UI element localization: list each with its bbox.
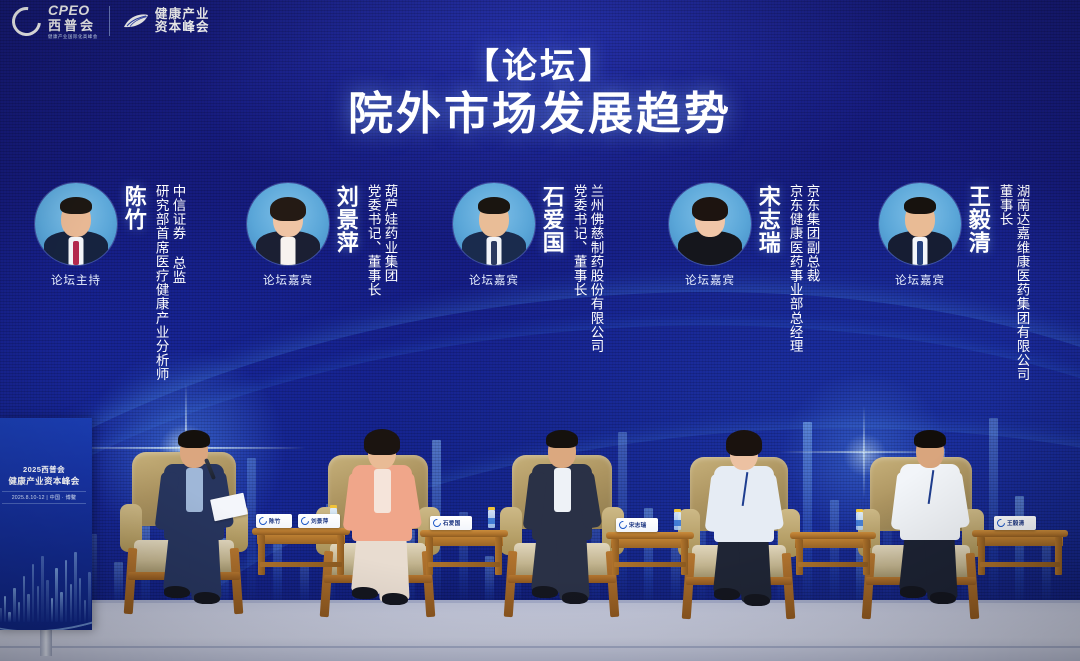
panelist-org-block: 中信证券 总监研究部首席医疗健康产业分析师	[151, 184, 185, 381]
panelist-org-line: 京东健康医药事业部总经理	[787, 184, 802, 353]
person-shoe	[352, 587, 378, 599]
side-table-leg	[1055, 537, 1062, 575]
person-leg	[924, 535, 957, 600]
standee-chart-bar	[51, 598, 54, 622]
water-bottle	[856, 509, 863, 530]
standee-chart-bar	[4, 596, 7, 622]
panelist-org-line: 董事长	[997, 184, 1012, 381]
person-hair	[726, 430, 762, 456]
standee-chart-bar	[60, 592, 63, 622]
avatar-shirt	[281, 237, 296, 265]
side-table-apron	[257, 535, 345, 544]
panelist-org-line: 中信证券 总监	[170, 184, 185, 381]
avatar-tie	[73, 241, 79, 265]
panelist-portrait-column: 论坛主持	[34, 183, 118, 288]
standee-chart-bar	[70, 584, 73, 622]
nameplate-text: 刘景萍	[311, 517, 328, 525]
summit-logo: 健康产业 资本峰会	[123, 8, 210, 35]
logo-divider	[109, 6, 110, 36]
panelist-name: 刘景萍	[334, 185, 358, 254]
cpeo-logo-cn: 西普会	[48, 19, 98, 32]
standee-chart-bar	[13, 588, 16, 622]
person-leg	[188, 535, 221, 600]
panelist-strip: 论坛主持陈竹中信证券 总监研究部首席医疗健康产业分析师论坛嘉宾刘景萍葫芦娃药业集…	[0, 183, 1080, 423]
nameplate-logo-icon	[995, 517, 1006, 528]
panelist-role: 论坛嘉宾	[685, 272, 735, 288]
person-hair	[178, 430, 210, 448]
panelist-org-line: 葫芦娃药业集团	[382, 184, 397, 297]
forum-title-block: 【论坛】 院外市场发展趋势	[0, 48, 1080, 140]
bottle-body	[856, 512, 863, 530]
standee-line2: 健康产业资本峰会	[0, 475, 92, 487]
cpeo-logo-sub: 健康产业国际化高峰会	[48, 35, 98, 39]
person-leg	[556, 535, 589, 600]
panelist-name: 石爱国	[540, 185, 564, 254]
panelist-seated	[518, 424, 628, 624]
person-leg	[376, 536, 409, 601]
standee-chart-bar	[65, 560, 68, 622]
bottle-label	[488, 518, 495, 524]
panelist-role: 论坛嘉宾	[469, 272, 519, 288]
standee-base-pole	[40, 630, 52, 656]
standee-chart-bar	[74, 552, 77, 622]
panelist-portrait-column: 论坛嘉宾	[878, 183, 962, 288]
conference-stage-photo: CPEO 西普会 健康产业国际化高峰会 健康产业 资本峰会 【论坛】 院外市场发…	[0, 0, 1080, 661]
side-table-stretcher	[260, 562, 342, 567]
panelist-name: 宋志瑞	[756, 185, 780, 254]
panelist-org-line: 研究部首席医疗健康产业分析师	[153, 184, 168, 381]
side-table-leg	[495, 537, 502, 575]
person-shoe	[532, 586, 558, 598]
standee-chart-bar	[23, 576, 26, 622]
bottle-label	[674, 520, 681, 526]
standee-chart-bar	[41, 556, 44, 622]
water-bottle	[674, 509, 681, 530]
panelist-card: 论坛嘉宾王毅清湖南达嘉维康医药集团有限公司董事长	[878, 183, 1028, 381]
person-hair	[546, 430, 578, 448]
panelist-org-block: 湖南达嘉维康医药集团有限公司董事长	[995, 184, 1029, 381]
nameplate-logo-icon	[299, 515, 310, 526]
stage-floor-seam	[0, 646, 1080, 648]
nameplate-text: 陈竹	[269, 517, 281, 525]
standee-chart-bar	[46, 580, 49, 622]
standee-chart-bar	[88, 572, 91, 622]
nameplate: 王毅清	[994, 516, 1036, 530]
person-shoe	[900, 586, 926, 598]
panelist-avatar	[453, 183, 535, 265]
panelist-org-line: 京东集团副总裁	[804, 184, 819, 353]
person-shoe	[714, 588, 740, 600]
panelist-org-block: 葫芦娃药业集团党委书记、董事长	[363, 184, 397, 297]
side-table-leg	[863, 539, 870, 575]
panelist-name: 陈竹	[122, 185, 146, 231]
forum-title-bracket: 【论坛】	[0, 48, 1080, 86]
standee-chart-bar	[32, 564, 35, 622]
standee-chart-bar	[55, 568, 58, 622]
person-hair	[914, 430, 946, 448]
panelist-org-line: 党委书记、董事长	[365, 184, 380, 297]
person-shoe	[194, 592, 220, 604]
nameplate-text: 王毅清	[1007, 519, 1024, 527]
avatar-hair	[692, 197, 728, 221]
avatar-hair	[270, 197, 306, 221]
standee-chart-bar	[84, 600, 87, 622]
panelist-org-line: 湖南达嘉维康医药集团有限公司	[1014, 184, 1029, 381]
person-shirt	[554, 468, 571, 512]
person-shoe	[164, 586, 190, 598]
person-shirt	[374, 469, 391, 513]
panelist-card: 论坛主持陈竹中信证券 总监研究部首席医疗健康产业分析师	[34, 183, 184, 381]
panelist-seated	[886, 424, 996, 624]
leaf-logo-icon	[123, 14, 149, 29]
panelist-portrait-column: 论坛嘉宾	[668, 183, 752, 288]
panelist-org-block: 兰州佛慈制药股份有限公司党委书记、董事长	[569, 184, 603, 353]
standee-chart-bar	[0, 608, 2, 622]
person-shoe	[744, 594, 770, 606]
standee-chart-bar	[8, 612, 11, 622]
person-shirt	[186, 468, 203, 512]
panelist-card: 论坛嘉宾刘景萍葫芦娃药业集团党委书记、董事长	[246, 183, 396, 297]
armchair-leg	[124, 548, 138, 614]
bottle-label	[856, 520, 863, 526]
moderator	[150, 424, 260, 624]
event-logo-bar: CPEO 西普会 健康产业国际化高峰会 健康产业 资本峰会	[0, 0, 1080, 42]
nameplate: 陈竹	[256, 514, 292, 528]
summit-logo-line2: 资本峰会	[155, 21, 210, 35]
standee-chart-decor	[0, 544, 92, 622]
person-hair	[364, 429, 400, 455]
side-table-leg	[681, 539, 688, 575]
panelist-org-block: 京东集团副总裁京东健康医药事业部总经理	[785, 184, 819, 353]
nameplate-text: 宋志瑞	[629, 521, 646, 529]
nameplate: 刘景萍	[298, 514, 340, 528]
panelist-avatar	[35, 183, 117, 265]
panelist-role: 论坛嘉宾	[263, 272, 313, 288]
panelist-avatar	[879, 183, 961, 265]
standee-date: 2025.8.10-12 | 中国 · 博鳌	[2, 491, 86, 504]
panelist-card: 论坛嘉宾石爱国兰州佛慈制药股份有限公司党委书记、董事长	[452, 183, 602, 353]
water-bottle	[488, 507, 495, 528]
cpeo-ring-logo-icon	[6, 1, 47, 42]
avatar-tie	[491, 241, 497, 265]
panelist-portrait-column: 论坛嘉宾	[452, 183, 536, 288]
avatar-hair	[60, 197, 92, 214]
side-table-top	[252, 528, 350, 535]
panelist-portrait-column: 论坛嘉宾	[246, 183, 330, 288]
panelist-role: 论坛嘉宾	[895, 272, 945, 288]
cpeo-logo-en: CPEO	[48, 3, 98, 17]
avatar-hair	[478, 197, 510, 214]
standee-chart-bar	[27, 594, 30, 622]
forum-title-main: 院外市场发展趋势	[0, 88, 1080, 140]
bottle-body	[674, 512, 681, 530]
standee-banner: 2025西普会 健康产业资本峰会 2025.8.10-12 | 中国 · 博鳌	[0, 418, 92, 630]
person-shoe	[930, 592, 956, 604]
standee-chart-bar	[37, 586, 40, 622]
avatar-hair	[904, 197, 936, 214]
cpeo-logo: CPEO 西普会 健康产业国际化高峰会	[0, 3, 98, 39]
panelist-org-line: 兰州佛慈制药股份有限公司	[588, 184, 603, 353]
panelist-org-line: 党委书记、董事长	[571, 184, 586, 353]
bottle-body	[488, 510, 495, 528]
panelist-role: 论坛主持	[51, 272, 101, 288]
standee-line1: 2025西普会	[0, 464, 92, 475]
panelist-card: 论坛嘉宾宋志瑞京东集团副总裁京东健康医药事业部总经理	[668, 183, 818, 353]
standee-chart-bar	[79, 578, 82, 622]
panelist-seated	[700, 426, 810, 626]
person-shoe	[562, 592, 588, 604]
panelist-seated	[338, 425, 448, 625]
person-leg	[738, 537, 771, 602]
panelist-avatar	[669, 183, 751, 265]
avatar-tie	[917, 241, 923, 265]
standee-chart-bar	[18, 602, 21, 622]
panelist-avatar	[247, 183, 329, 265]
panelist-name: 王毅清	[966, 185, 990, 254]
person-shoe	[382, 593, 408, 605]
summit-logo-line1: 健康产业	[155, 8, 210, 22]
